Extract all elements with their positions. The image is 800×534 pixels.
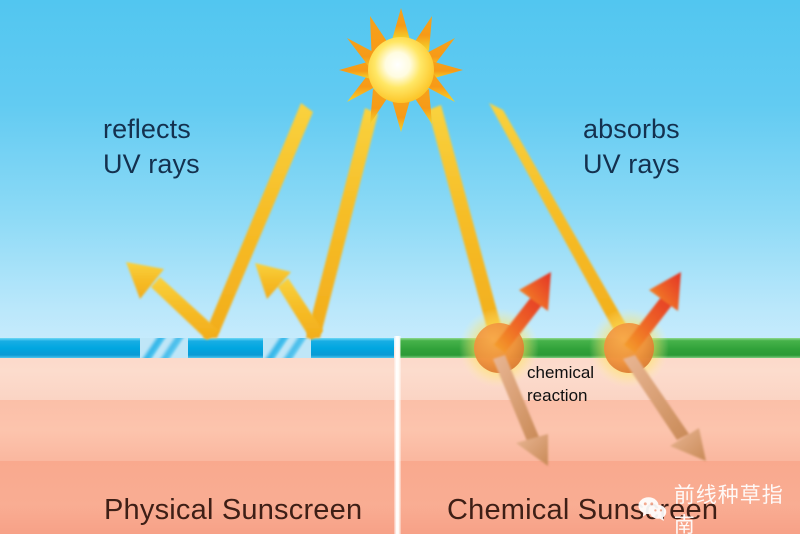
annotation-absorbs-line1: absorbs bbox=[583, 112, 680, 147]
physical-sunscreen-segment bbox=[0, 338, 140, 358]
annotation-reflects-line2: UV rays bbox=[103, 147, 200, 182]
chemical-sunscreen-layer bbox=[400, 338, 800, 358]
wechat-icon bbox=[638, 496, 667, 522]
chemical-reaction-label-line1: chemical bbox=[527, 362, 594, 385]
section-divider bbox=[394, 336, 401, 534]
annotation-absorbs-line2: UV rays bbox=[583, 147, 680, 182]
watermark-text: 前线种草指南 bbox=[674, 479, 800, 534]
physical-sunscreen-segment bbox=[188, 338, 263, 358]
chemical-reaction-label-line2: reaction bbox=[527, 385, 594, 408]
annotation-reflects: reflects UV rays bbox=[103, 112, 200, 181]
sunscreen-diagram: reflects UV rays absorbs UV rays chemica… bbox=[0, 0, 800, 534]
annotation-absorbs: absorbs UV rays bbox=[583, 112, 680, 181]
annotation-reflects-line1: reflects bbox=[103, 112, 200, 147]
watermark: 前线种草指南 bbox=[638, 479, 800, 534]
chemical-reaction-label: chemical reaction bbox=[527, 362, 594, 407]
physical-sunscreen-gap bbox=[263, 338, 311, 358]
physical-sunscreen-segment bbox=[311, 338, 394, 358]
physical-sunscreen-gap bbox=[140, 338, 188, 358]
caption-physical-sunscreen: Physical Sunscreen bbox=[104, 494, 362, 527]
